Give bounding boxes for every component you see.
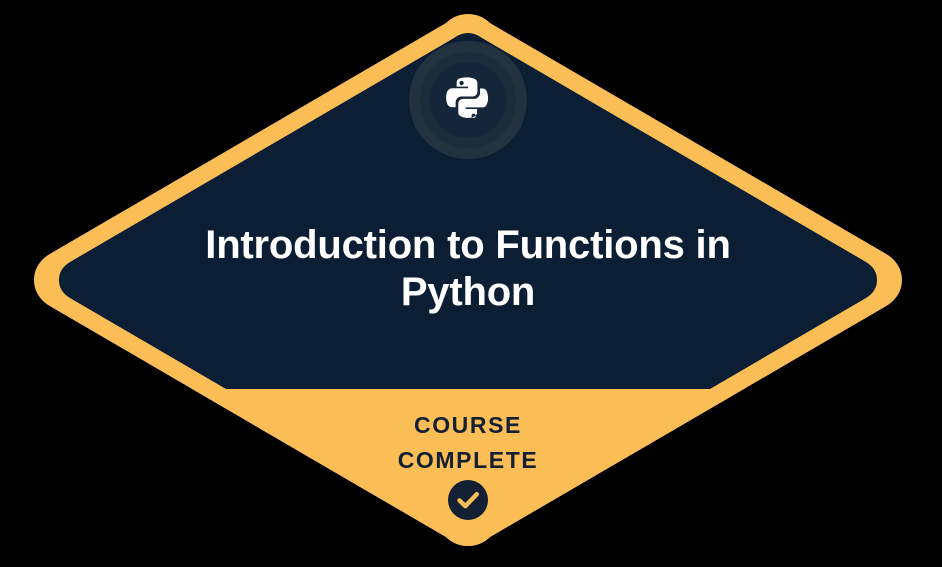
python-logo-icon	[441, 73, 495, 127]
status-badge: COURSE COMPLETE	[221, 408, 715, 478]
badge-canvas: Introduction to Functions in Python COUR…	[0, 0, 942, 567]
check-circle-icon	[448, 480, 488, 520]
course-title: Introduction to Functions in Python	[171, 222, 765, 316]
